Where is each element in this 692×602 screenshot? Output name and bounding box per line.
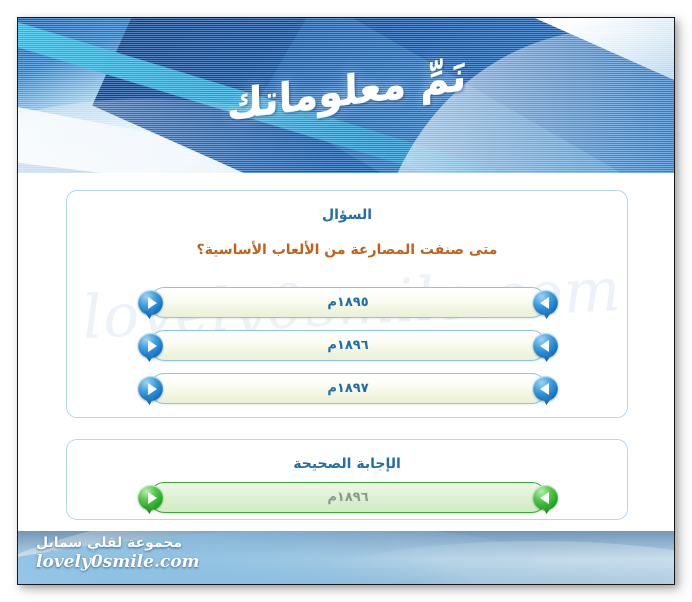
triangle-right-glyph (148, 492, 157, 504)
triangle-right-glyph (148, 297, 157, 309)
logo-title-wrap: نَمِّ معلوماتك (18, 18, 675, 173)
play-arrow-left-icon[interactable] (533, 485, 558, 510)
triangle-left-glyph (540, 340, 549, 352)
answer-label: ١٨٩٦م (327, 490, 368, 505)
option-label: ١٨٩٧م (327, 381, 368, 396)
question-panel-heading: السؤال (67, 207, 627, 223)
answer-row-wrap: ١٨٩٦م (67, 482, 629, 513)
triangle-left-glyph (540, 297, 549, 309)
play-arrow-right-icon[interactable] (138, 290, 163, 315)
quiz-card: نَمِّ معلوماتك lovely0smile.com السؤال م… (17, 17, 675, 585)
answer-pill: ١٨٩٦م (149, 482, 547, 513)
question-text: متى صنفت المصارعة من الألعاب الأساسية؟ (67, 242, 627, 258)
option-pill[interactable]: ١٨٩٦م (149, 330, 547, 361)
play-arrow-right-icon[interactable] (138, 376, 163, 401)
option-pill[interactable]: ١٨٩٧م (149, 373, 547, 404)
option-row[interactable]: ١٨٩٥م (138, 287, 558, 318)
triangle-right-glyph (148, 383, 157, 395)
option-label: ١٨٩٦م (327, 338, 368, 353)
footer-branding: مجموعة لفلي سمايل lovely0smile.com (36, 535, 200, 572)
answer-panel-heading: الإجابة الصحيحة (67, 456, 627, 472)
footer-banner: مجموعة لفلي سمايل lovely0smile.com (18, 531, 675, 585)
footer-arabic-text: مجموعة لفلي سمايل (36, 535, 200, 551)
play-arrow-right-icon[interactable] (138, 485, 163, 510)
site-logo-calligraphy: نَمِّ معلوماتك (227, 53, 467, 139)
footer-website-url: lovely0smile.com (36, 552, 200, 572)
play-arrow-left-icon[interactable] (533, 290, 558, 315)
option-row[interactable]: ١٨٩٦م (138, 330, 558, 361)
correct-answer-panel: الإجابة الصحيحة ١٨٩٦م (66, 439, 628, 520)
option-pill[interactable]: ١٨٩٥م (149, 287, 547, 318)
header-banner: نَمِّ معلوماتك (18, 18, 675, 173)
triangle-right-glyph (148, 340, 157, 352)
play-arrow-right-icon[interactable] (138, 333, 163, 358)
triangle-left-glyph (540, 492, 549, 504)
question-panel: السؤال متى صنفت المصارعة من الألعاب الأس… (66, 190, 628, 418)
options-list: ١٨٩٥م ١٨٩٦م (67, 287, 629, 416)
option-label: ١٨٩٥م (327, 295, 368, 310)
play-arrow-left-icon[interactable] (533, 333, 558, 358)
play-arrow-left-icon[interactable] (533, 376, 558, 401)
content-area: lovely0smile.com السؤال متى صنفت المصارع… (18, 173, 675, 531)
answer-row: ١٨٩٦م (138, 482, 558, 513)
option-row[interactable]: ١٨٩٧م (138, 373, 558, 404)
triangle-left-glyph (540, 383, 549, 395)
